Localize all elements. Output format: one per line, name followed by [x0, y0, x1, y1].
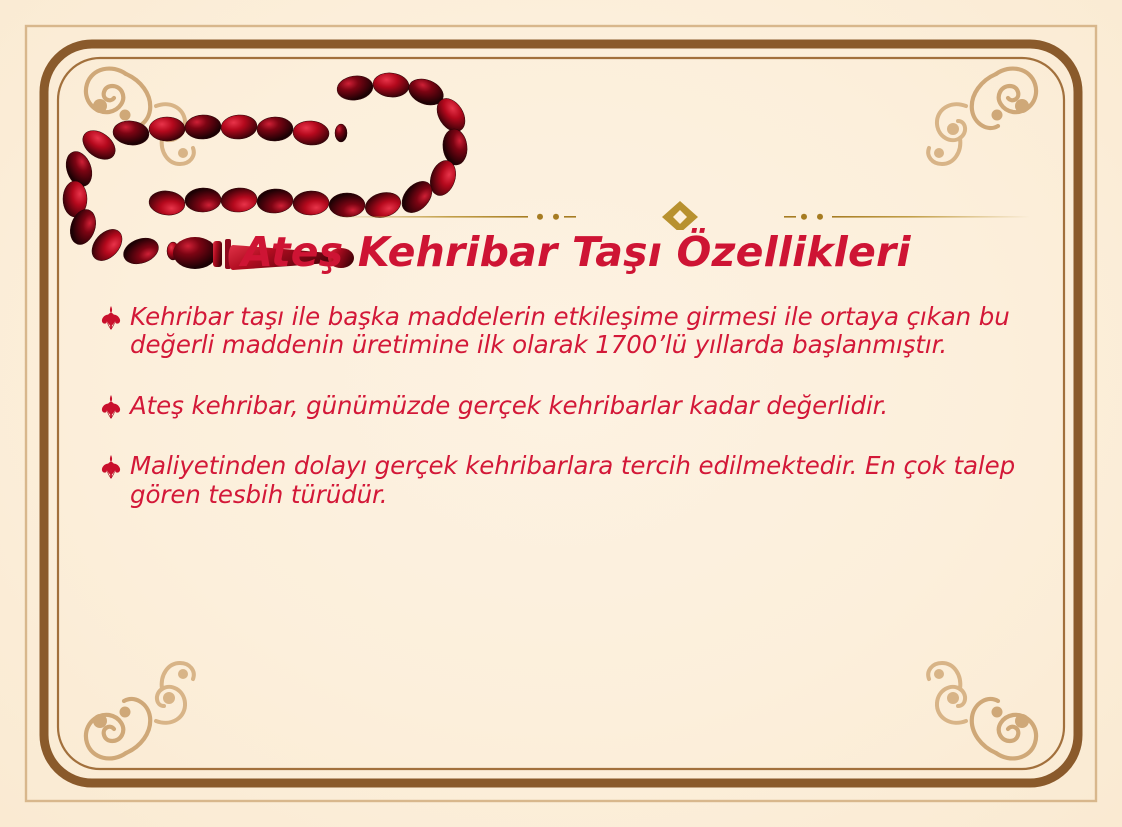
fleur-de-lis-icon	[100, 306, 130, 330]
corner-ornament-top-right	[928, 69, 1036, 164]
list-item: Maliyetinden dolayı gerçek kehribarlara …	[100, 452, 1060, 509]
corner-ornament-bottom-right	[928, 663, 1036, 758]
list-item-text: Maliyetinden dolayı gerçek kehribarlara …	[130, 452, 1060, 509]
fleur-de-lis-icon	[100, 395, 130, 419]
poster-canvas: Ateş Kehribar Taşı Özellikleri Kehribar …	[0, 0, 1122, 827]
page-title: Ateş Kehribar Taşı Özellikleri	[0, 228, 1122, 276]
list-item-text: Kehribar taşı ile başka maddelerin etkil…	[130, 303, 1060, 360]
features-list: Kehribar taşı ile başka maddelerin etkil…	[100, 303, 1060, 509]
gold-diamond-divider	[330, 196, 1030, 230]
fleur-de-lis-icon	[100, 455, 130, 479]
list-item: Ateş kehribar, günümüzde gerçek kehribar…	[100, 392, 1060, 420]
list-item-text: Ateş kehribar, günümüzde gerçek kehribar…	[130, 392, 1060, 420]
list-item: Kehribar taşı ile başka maddelerin etkil…	[100, 303, 1060, 360]
corner-ornament-bottom-left	[86, 663, 194, 758]
